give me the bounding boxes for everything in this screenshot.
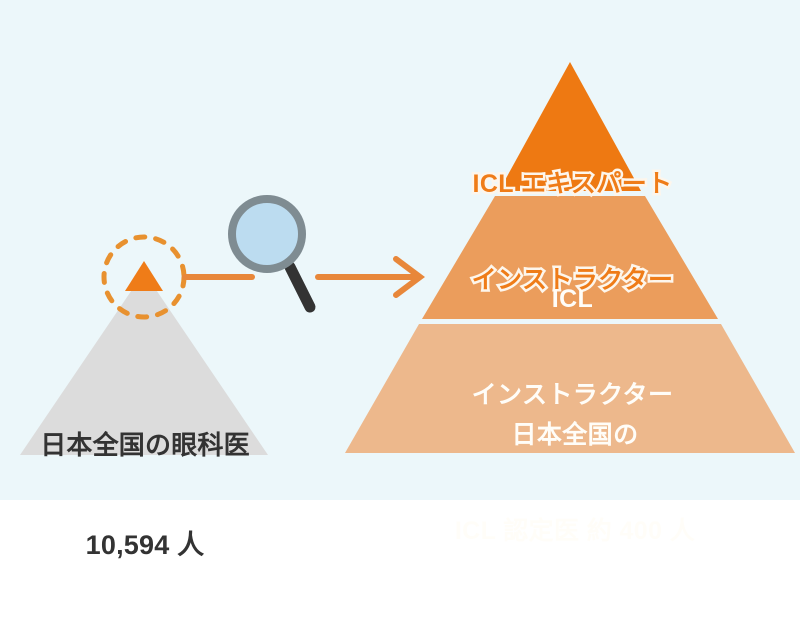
pyramid-tier-bottom-shape <box>345 324 795 453</box>
arrow-right-icon <box>318 259 420 295</box>
pyramid-tier-top-shape <box>499 62 641 191</box>
connector-group <box>185 199 420 307</box>
right-pyramid-group <box>345 62 795 453</box>
diagram-graphics <box>0 0 800 500</box>
left-pyramid-group <box>20 237 268 455</box>
left-pyramid-caption-line2: 10,594 人 <box>0 528 290 563</box>
infographic-canvas: 日本全国の眼科医 10,594 人 ICL エキスパート インストラクター IC… <box>0 0 800 500</box>
magnifying-glass-icon <box>232 199 310 307</box>
magnifier-handle <box>290 267 310 307</box>
pyramid-tier-bottom-caption-line2: ICL 認定医 約 400 人 <box>390 515 760 547</box>
gray-pyramid-shape <box>20 272 268 455</box>
pyramid-tier-middle-shape <box>422 196 718 319</box>
orange-triangle-tip-icon <box>125 261 163 291</box>
